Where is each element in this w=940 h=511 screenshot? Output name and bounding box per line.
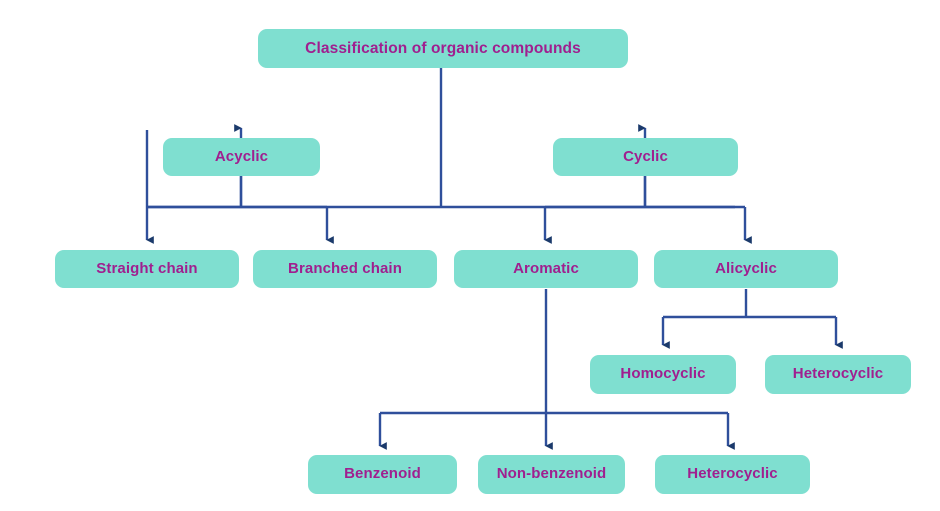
node-non-benzenoid-label: Non-benzenoid — [497, 466, 607, 483]
node-branched-chain-label: Branched chain — [288, 261, 402, 278]
node-root[interactable]: Classification of organic compounds — [258, 29, 628, 68]
node-benzenoid-label: Benzenoid — [344, 466, 421, 483]
node-branched-chain[interactable]: Branched chain — [253, 250, 437, 288]
node-cyclic[interactable]: Cyclic — [553, 138, 738, 176]
node-heterocyclic-aromatic[interactable]: Heterocyclic — [655, 455, 810, 494]
node-acyclic[interactable]: Acyclic — [163, 138, 320, 176]
node-straight-chain[interactable]: Straight chain — [55, 250, 239, 288]
node-homocyclic[interactable]: Homocyclic — [590, 355, 736, 394]
node-root-label: Classification of organic compounds — [305, 40, 581, 57]
node-homocyclic-label: Homocyclic — [620, 366, 705, 383]
node-aromatic-label: Aromatic — [513, 261, 579, 278]
node-alicyclic-label: Alicyclic — [715, 261, 777, 278]
node-alicyclic[interactable]: Alicyclic — [654, 250, 838, 288]
node-straight-chain-label: Straight chain — [96, 261, 197, 278]
node-acyclic-label: Acyclic — [215, 149, 268, 166]
classification-flowchart: Classification of organic compounds Acyc… — [0, 0, 940, 511]
node-aromatic[interactable]: Aromatic — [454, 250, 638, 288]
node-cyclic-label: Cyclic — [623, 149, 668, 166]
node-heterocyclic-alicyclic[interactable]: Heterocyclic — [765, 355, 911, 394]
node-non-benzenoid[interactable]: Non-benzenoid — [478, 455, 625, 494]
node-benzenoid[interactable]: Benzenoid — [308, 455, 457, 494]
node-heterocyclic-aromatic-label: Heterocyclic — [687, 466, 777, 483]
node-heterocyclic-alicyclic-label: Heterocyclic — [793, 366, 883, 383]
